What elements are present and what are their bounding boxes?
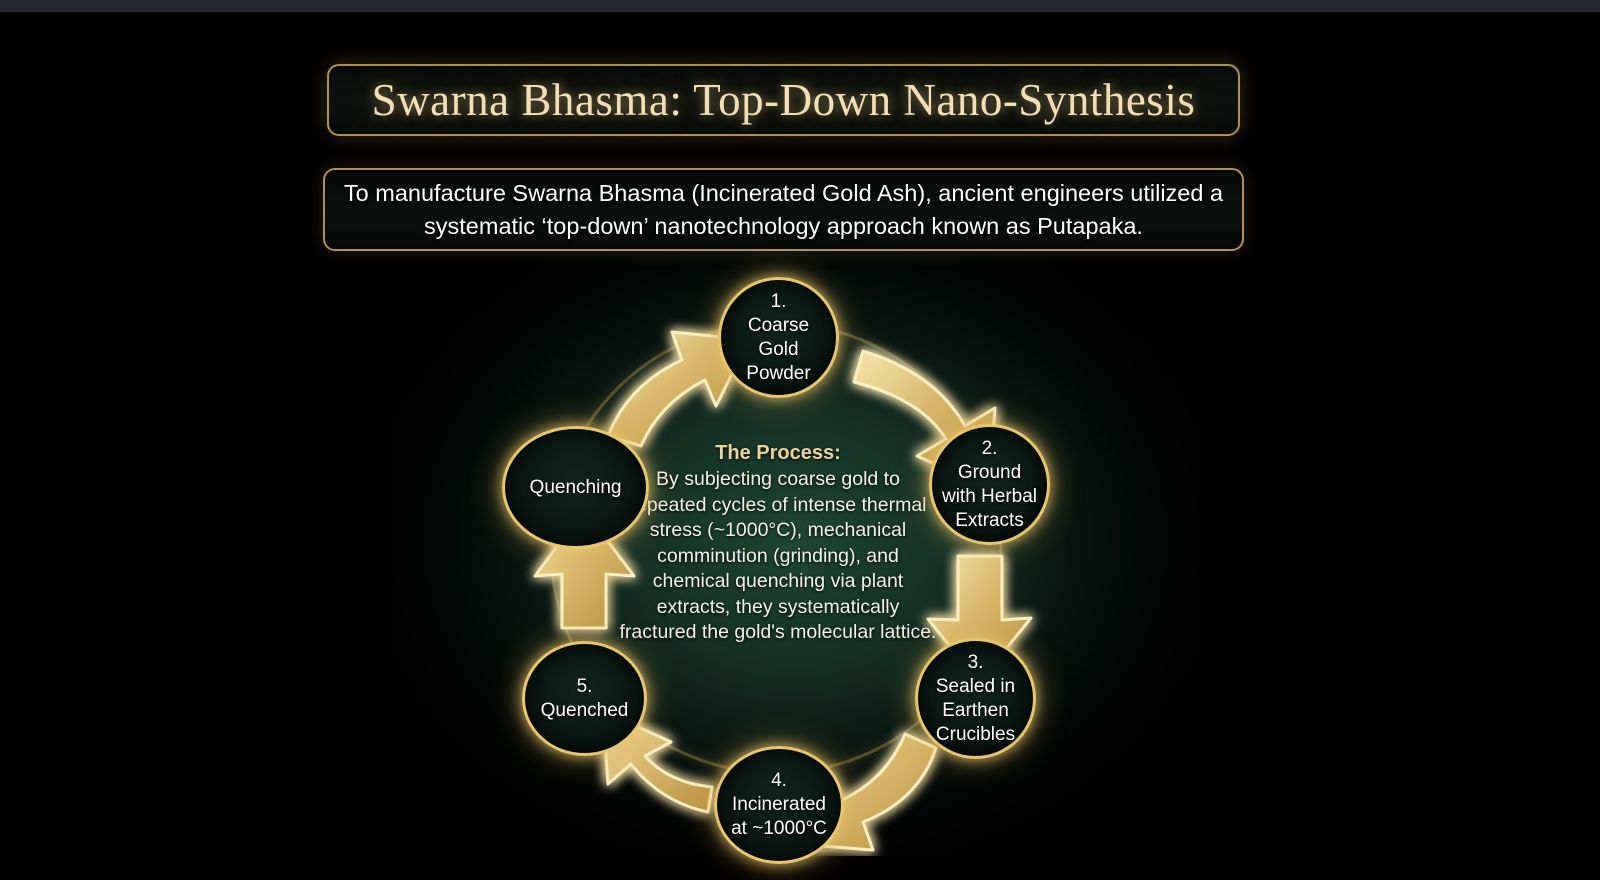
node-1-label-line1: Coarse [748,314,809,338]
node-3-label-line2: Earthen [942,699,1009,723]
node-3-label-line3: Crucibles [936,723,1015,747]
node-1-label-line3: Powder [746,362,810,386]
cycle-diagram: The Process: By subjecting coarse gold t… [465,256,1125,856]
title-box: Swarna Bhasma: Top-Down Nano-Synthesis [327,64,1240,136]
window-title-bar [0,0,1600,13]
node-3-number: 3. [968,651,984,675]
node-2-label-line3: Extracts [955,509,1024,533]
cycle-node-1-coarse-gold-powder[interactable]: 1. Coarse Gold Powder [718,277,839,398]
node-1-number: 1. [771,290,787,314]
node-4-label-line2: at ~1000°C [731,817,827,841]
subtitle-box: To manufacture Swarna Bhasma (Incinerate… [323,168,1244,251]
node-5-number: 5. [577,675,593,699]
node-5-label-line1: Quenched [541,699,629,723]
cycle-node-quenching[interactable]: Quenching [502,426,649,549]
node-4-label-line1: Incinerated [732,793,826,817]
cycle-node-2-ground-with-herbal-extracts[interactable]: 2. Ground with Herbal Extracts [929,424,1050,545]
node-4-number: 4. [771,769,787,793]
node-2-label-line1: Ground [958,461,1021,485]
node-2-number: 2. [982,437,998,461]
cycle-node-3-sealed-in-earthen-crucibles[interactable]: 3. Sealed in Earthen Crucibles [915,638,1036,759]
node-2-label-line2: with Herbal [942,485,1037,509]
subtitle-text: To manufacture Swarna Bhasma (Incinerate… [341,177,1226,243]
node-3-label-line1: Sealed in [936,675,1015,699]
node-1-label-line2: Gold [758,338,798,362]
node-quenching-label: Quenching [530,476,622,500]
cycle-node-4-incinerated[interactable]: 4. Incinerated at ~1000°C [714,746,844,864]
page-title: Swarna Bhasma: Top-Down Nano-Synthesis [372,74,1196,126]
cycle-node-5-quenched[interactable]: 5. Quenched [522,641,647,756]
slide-canvas: Swarna Bhasma: Top-Down Nano-Synthesis T… [0,13,1600,880]
